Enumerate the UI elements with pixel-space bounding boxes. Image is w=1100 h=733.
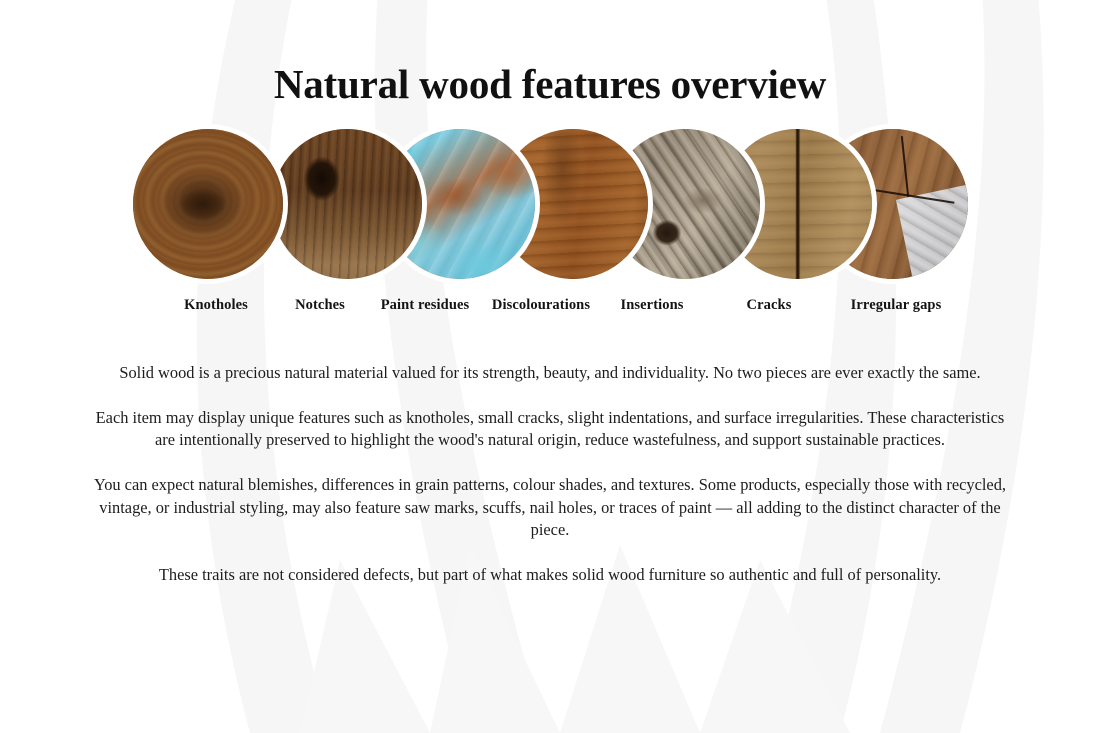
knotholes-image (133, 129, 283, 279)
feature-label-insertions: Insertions (620, 297, 683, 314)
paragraph-expectations: You can expect natural blemishes, differ… (92, 474, 1008, 542)
wood-features-strip: Knotholes Notches Paint residues Discolo… (0, 129, 1100, 334)
body-copy: Solid wood is a precious natural materia… (92, 334, 1008, 586)
paragraph-features: Each item may display unique features su… (92, 407, 1008, 452)
feature-label-paint-residues: Paint residues (381, 297, 470, 314)
feature-notches[interactable]: Notches (272, 129, 422, 279)
notched-wood-texture (272, 129, 422, 279)
feature-label-notches: Notches (295, 297, 345, 314)
feature-label-knotholes: Knotholes (184, 297, 248, 314)
page-title: Natural wood features overview (0, 0, 1100, 107)
feature-label-cracks: Cracks (747, 297, 792, 314)
notches-image (272, 129, 422, 279)
knotholes-wood-texture (133, 129, 283, 279)
paragraph-intro: Solid wood is a precious natural materia… (92, 362, 1008, 385)
feature-label-irregular-gaps: Irregular gaps (851, 297, 942, 314)
feature-label-discolourations: Discolourations (492, 297, 590, 314)
feature-knotholes[interactable]: Knotholes (133, 129, 283, 279)
paragraph-conclusion: These traits are not considered defects,… (92, 564, 1008, 587)
gap-line-vertical-right (901, 136, 909, 197)
poster-page: Natural wood features overview Knotholes… (0, 0, 1100, 733)
